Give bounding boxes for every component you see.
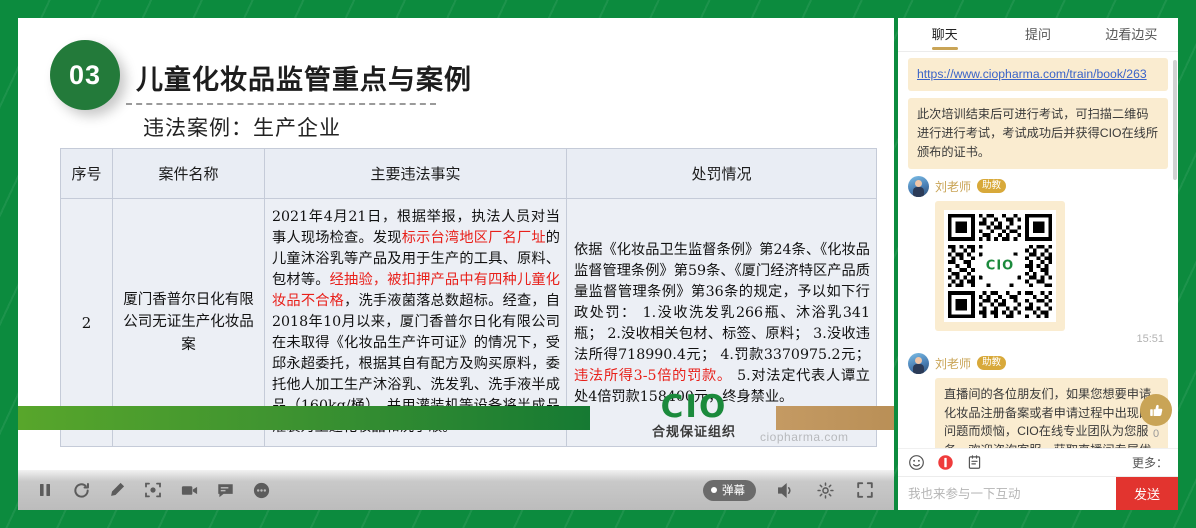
col-header-pen: 处罚情况 — [567, 149, 877, 199]
danmaku-chat-icon[interactable] — [214, 479, 236, 501]
message-timestamp: 15:51 — [935, 333, 1164, 345]
chat-link-url[interactable]: https://www.ciopharma.com/train/book/263 — [917, 67, 1147, 81]
notes-icon[interactable] — [966, 454, 983, 471]
chat-input-row: 发送 — [898, 476, 1178, 510]
qr-code-image[interactable]: CIO — [944, 210, 1056, 322]
title-underline — [126, 103, 436, 105]
chat-message-promo: 刘老师 助教 直播间的各位朋友们，如果您想要申请化妆品注册备案或者申请过程中出现… — [908, 353, 1168, 448]
chat-message-body: CIO 15:51 — [935, 201, 1168, 345]
cio-logo-subtitle: 合规保证组织 — [630, 425, 758, 438]
chat-message-body: 直播间的各位朋友们，如果您想要申请化妆品注册备案或者申请过程中出现的问题而烦恼，… — [935, 378, 1168, 448]
more-options-icon[interactable] — [250, 479, 272, 501]
chat-message-list[interactable]: https://www.ciopharma.com/train/book/263… — [898, 52, 1178, 448]
chat-message-link[interactable]: https://www.ciopharma.com/train/book/263 — [908, 58, 1168, 91]
danmaku-toggle[interactable]: 弹幕 — [703, 480, 756, 501]
more-label[interactable]: 更多： — [1132, 454, 1168, 471]
avatar — [908, 353, 929, 374]
qr-center-logo: CIO — [981, 255, 1019, 276]
settings-gear-icon[interactable] — [814, 479, 836, 501]
col-header-fact: 主要违法事实 — [265, 149, 567, 199]
presentation-slide: 03 儿童化妆品监管重点与案例 违法案例：生产企业 序号 案件名称 主要违法事实… — [18, 18, 894, 470]
section-number-badge: 03 — [50, 40, 120, 110]
pause-icon[interactable] — [34, 479, 56, 501]
video-stage[interactable]: 03 儿童化妆品监管重点与案例 违法案例：生产企业 序号 案件名称 主要违法事实… — [18, 18, 894, 510]
like-control: 0 — [1140, 394, 1172, 440]
role-badge: 助教 — [977, 179, 1006, 193]
qr-code-bubble[interactable]: CIO — [935, 201, 1065, 331]
highlighted-text: 违法所得3-5倍的罚款。 — [574, 368, 732, 384]
volume-icon[interactable] — [774, 479, 796, 501]
video-record-icon[interactable] — [178, 479, 200, 501]
role-badge: 助教 — [977, 356, 1006, 370]
avatar — [908, 176, 929, 197]
player-left-controls — [18, 479, 272, 501]
like-count: 0 — [1140, 428, 1172, 440]
player-control-bar: 弹幕 — [18, 470, 894, 510]
emoji-icon[interactable] — [908, 454, 925, 471]
chat-message-exam-info: 此次培训结束后可进行考试，可扫描二维码进行进行考试，考试成功后并获得CIO在线所… — [908, 98, 1168, 169]
chat-tool-bar: 更多： — [898, 448, 1178, 476]
send-button[interactable]: 发送 — [1116, 477, 1178, 510]
chat-message-header: 刘老师 助教 — [908, 353, 1168, 374]
cio-logo: CIO 合规保证组织 — [630, 392, 758, 438]
chat-username: 刘老师 — [935, 355, 971, 372]
replay-icon[interactable] — [70, 479, 92, 501]
danmaku-dot — [711, 487, 717, 493]
player-right-controls: 弹幕 — [703, 479, 894, 501]
chat-panel: 聊天 提问 边看边买 https://www.ciopharma.com/tra… — [898, 18, 1178, 510]
fullscreen-icon[interactable] — [854, 479, 876, 501]
danmaku-label: 弹幕 — [722, 482, 745, 498]
highlighted-text: 标示台湾地区厂名厂址 — [402, 230, 546, 246]
page-title: 儿童化妆品监管重点与案例 — [136, 58, 472, 97]
chat-message-text: 直播间的各位朋友们，如果您想要申请化妆品注册备案或者申请过程中出现的问题而烦恼，… — [935, 378, 1168, 448]
pencil-icon[interactable] — [106, 479, 128, 501]
slide-header: 03 儿童化妆品监管重点与案例 违法案例：生产企业 — [18, 18, 894, 136]
tab-questions[interactable]: 提问 — [991, 18, 1084, 52]
slide-footer: CIO 合规保证组织 — [18, 406, 894, 430]
chat-message-header: 刘老师 助教 — [908, 176, 1168, 197]
cio-logo-mark: CIO — [630, 392, 758, 423]
gift-icon[interactable] — [937, 454, 954, 471]
chat-message-qr: 刘老师 助教 — [908, 176, 1168, 345]
footer-green-band — [18, 406, 590, 430]
screenshot-icon[interactable] — [142, 479, 164, 501]
chat-input[interactable] — [898, 477, 1116, 510]
page-subtitle: 违法案例：生产企业 — [143, 112, 341, 142]
col-header-name: 案件名称 — [113, 149, 265, 199]
chat-tab-bar: 聊天 提问 边看边买 — [898, 18, 1178, 52]
chat-username: 刘老师 — [935, 178, 971, 195]
site-watermark: ciopharma.com — [760, 430, 849, 444]
tab-shop[interactable]: 边看边买 — [1085, 18, 1178, 52]
chat-scrollbar[interactable] — [1173, 60, 1177, 180]
tab-chat[interactable]: 聊天 — [898, 18, 991, 52]
thumbs-up-icon[interactable] — [1140, 394, 1172, 426]
col-header-no: 序号 — [61, 149, 113, 199]
table-header-row: 序号 案件名称 主要违法事实 处罚情况 — [61, 149, 877, 199]
footer-tan-band — [776, 406, 894, 430]
